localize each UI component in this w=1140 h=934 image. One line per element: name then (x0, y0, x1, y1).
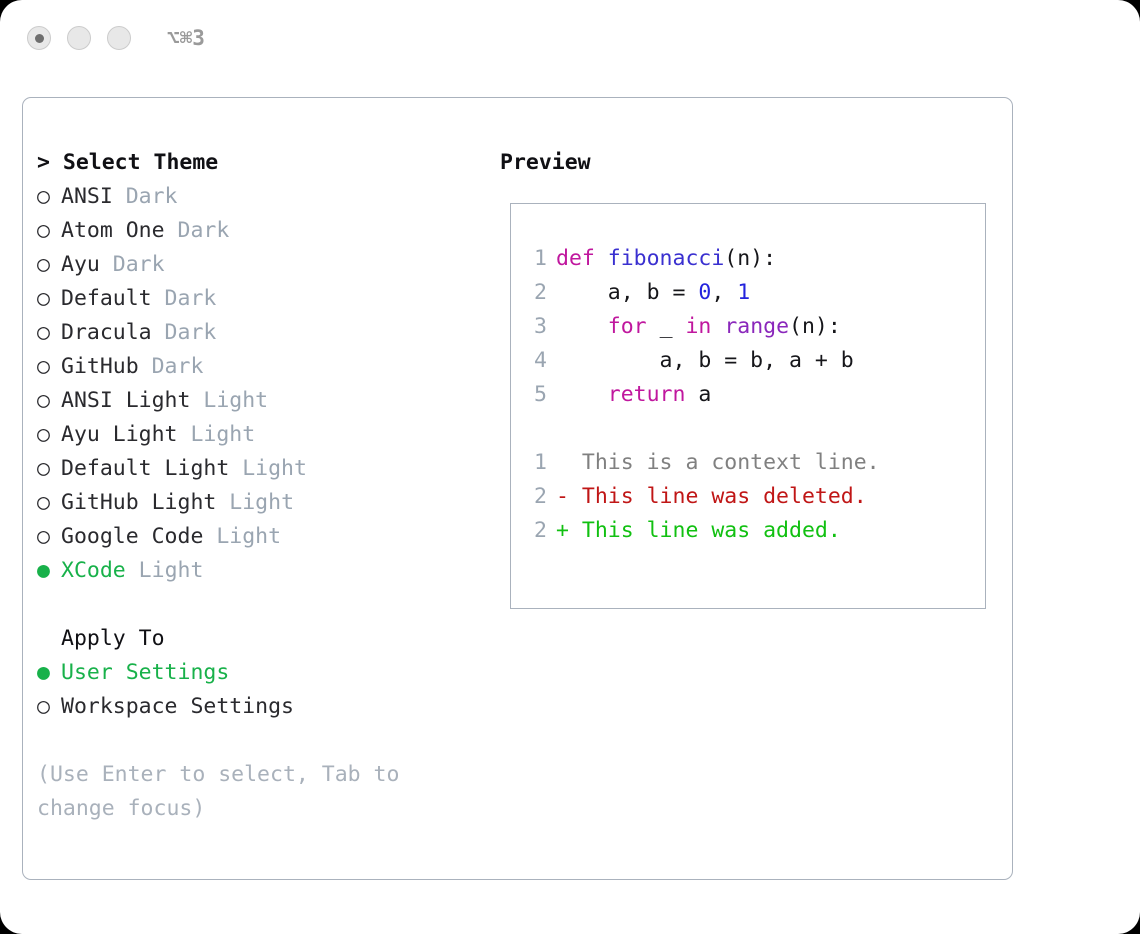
theme-list-item[interactable]: ○GitHub Light Light (37, 486, 487, 520)
radio-selected-icon: ● (37, 656, 61, 690)
theme-list-item[interactable]: ○Ayu Dark (37, 248, 487, 282)
theme-kind-label: Dark (139, 354, 204, 379)
diff-sample: 1 This is a context line.2- This line wa… (523, 446, 979, 548)
main-panel: > Select Theme ○ANSI Dark○Atom One Dark○… (22, 97, 1013, 880)
code-token: def (556, 246, 608, 271)
apply-to-header: Apply To (37, 622, 487, 656)
theme-name-label: Atom One (61, 218, 165, 243)
code-token: fibonacci (608, 246, 725, 271)
code-line: 4 a, b = b, a + b (523, 344, 979, 378)
code-token: - This line was deleted. (556, 484, 867, 509)
theme-kind-label: Light (178, 422, 256, 447)
theme-name-label: ANSI Light (61, 388, 190, 413)
preview-header: Preview (500, 146, 1000, 180)
code-token: (n): (724, 246, 776, 271)
radio-unselected-icon: ○ (37, 282, 61, 316)
theme-selector-header: > Select Theme (37, 146, 487, 180)
theme-list-item[interactable]: ○Default Light Light (37, 452, 487, 486)
theme-name-label: GitHub (61, 354, 139, 379)
app-window: ⌥⌘3 > Select Theme ○ANSI Dark○Atom One D… (0, 0, 1140, 934)
theme-name-label: ANSI (61, 184, 113, 209)
line-content: a, b = b, a + b (547, 348, 854, 373)
apply-to-list: ●User Settings○Workspace Settings (37, 656, 487, 724)
apply-to-label: User Settings (61, 660, 229, 685)
radio-unselected-icon: ○ (37, 248, 61, 282)
theme-list-item[interactable]: ○Ayu Light Light (37, 418, 487, 452)
code-token: 1 (737, 280, 750, 305)
line-content: a, b = 0, 1 (547, 280, 750, 305)
title-bar: ⌥⌘3 (0, 0, 1140, 78)
line-number: 3 (523, 310, 547, 344)
apply-to-item[interactable]: ○Workspace Settings (37, 690, 487, 724)
keyboard-shortcut-label: ⌥⌘3 (167, 24, 205, 52)
radio-unselected-icon: ○ (37, 486, 61, 520)
window-dot-active-inner-icon (35, 34, 44, 43)
diff-line: 1 This is a context line. (523, 446, 979, 480)
code-token (711, 314, 724, 339)
theme-kind-label: Dark (100, 252, 165, 277)
line-content: for _ in range(n): (547, 314, 841, 339)
code-token: This is a context line. (556, 450, 880, 475)
line-content: return a (547, 382, 711, 407)
code-line: 3 for _ in range(n): (523, 310, 979, 344)
theme-list-item[interactable]: ○ANSI Dark (37, 180, 487, 214)
line-content: def fibonacci(n): (547, 246, 776, 271)
code-token (556, 382, 608, 407)
theme-list: ○ANSI Dark○Atom One Dark○Ayu Dark○Defaul… (37, 180, 487, 588)
theme-list-item[interactable]: ○Atom One Dark (37, 214, 487, 248)
line-number: 4 (523, 344, 547, 378)
code-token: range (724, 314, 789, 339)
line-content: + This line was added. (547, 518, 841, 543)
theme-kind-label: Light (190, 388, 268, 413)
theme-name-label: Google Code (61, 524, 203, 549)
theme-selector-column: > Select Theme ○ANSI Dark○Atom One Dark○… (37, 146, 487, 826)
line-number: 1 (523, 446, 547, 480)
line-number: 5 (523, 378, 547, 412)
radio-unselected-icon: ○ (37, 180, 61, 214)
code-token: _ (647, 314, 686, 339)
window-dot-2-icon[interactable] (67, 26, 91, 50)
code-token: a, b = b, a + b (556, 348, 854, 373)
code-token: 0 (698, 280, 711, 305)
radio-selected-icon: ● (37, 554, 61, 588)
window-dot-active-icon[interactable] (27, 26, 51, 50)
theme-list-item[interactable]: ○GitHub Dark (37, 350, 487, 384)
code-sample: 1def fibonacci(n):2 a, b = 0, 13 for _ i… (523, 242, 979, 412)
code-token: for (608, 314, 647, 339)
theme-kind-label: Dark (165, 218, 230, 243)
radio-unselected-icon: ○ (37, 452, 61, 486)
code-token: a, b = (556, 280, 698, 305)
theme-name-label: Default Light (61, 456, 229, 481)
theme-list-item[interactable]: ○Dracula Dark (37, 316, 487, 350)
preview-content: 1def fibonacci(n):2 a, b = 0, 13 for _ i… (523, 242, 979, 548)
window-dot-3-icon[interactable] (107, 26, 131, 50)
code-token: return (608, 382, 686, 407)
code-token (556, 314, 608, 339)
radio-unselected-icon: ○ (37, 690, 61, 724)
line-number: 2 (523, 480, 547, 514)
code-line: 1def fibonacci(n): (523, 242, 979, 276)
theme-name-label: Ayu Light (61, 422, 178, 447)
theme-name-label: Dracula (61, 320, 152, 345)
code-line: 2 a, b = 0, 1 (523, 276, 979, 310)
line-number: 2 (523, 276, 547, 310)
theme-kind-label: Light (216, 490, 294, 515)
preview-column: Preview 1def fibonacci(n):2 a, b = 0, 13… (500, 146, 1000, 180)
radio-unselected-icon: ○ (37, 520, 61, 554)
line-number: 1 (523, 242, 547, 276)
code-token: (n): (789, 314, 841, 339)
theme-name-label: Ayu (61, 252, 100, 277)
code-line: 5 return a (523, 378, 979, 412)
theme-kind-label: Light (203, 524, 281, 549)
code-diff-spacer (523, 412, 979, 446)
radio-unselected-icon: ○ (37, 418, 61, 452)
apply-to-label: Workspace Settings (61, 694, 294, 719)
theme-name-label: XCode (61, 558, 126, 583)
theme-kind-label: Light (229, 456, 307, 481)
theme-kind-label: Light (126, 558, 204, 583)
theme-kind-label: Dark (113, 184, 178, 209)
theme-list-item[interactable]: ○Google Code Light (37, 520, 487, 554)
line-content: - This line was deleted. (547, 484, 867, 509)
code-token: + This line was added. (556, 518, 841, 543)
preview-box: 1def fibonacci(n):2 a, b = 0, 13 for _ i… (510, 203, 986, 609)
apply-to-item[interactable]: ●User Settings (37, 656, 487, 690)
theme-list-item[interactable]: ●XCode Light (37, 554, 487, 588)
theme-kind-label: Dark (152, 286, 217, 311)
line-number: 2 (523, 514, 547, 548)
code-token: , (711, 280, 737, 305)
keyboard-hint-text: (Use Enter to select, Tab to change focu… (37, 758, 437, 826)
radio-unselected-icon: ○ (37, 350, 61, 384)
theme-name-label: Default (61, 286, 152, 311)
apply-to-section: Apply To ●User Settings○Workspace Settin… (37, 622, 487, 724)
theme-kind-label: Dark (152, 320, 217, 345)
diff-line: 2- This line was deleted. (523, 480, 979, 514)
theme-list-item[interactable]: ○Default Dark (37, 282, 487, 316)
diff-line: 2+ This line was added. (523, 514, 979, 548)
radio-unselected-icon: ○ (37, 316, 61, 350)
code-token: a (685, 382, 711, 407)
line-content: This is a context line. (547, 450, 880, 475)
theme-list-item[interactable]: ○ANSI Light Light (37, 384, 487, 418)
code-token: in (685, 314, 711, 339)
radio-unselected-icon: ○ (37, 384, 61, 418)
radio-unselected-icon: ○ (37, 214, 61, 248)
theme-name-label: GitHub Light (61, 490, 216, 515)
